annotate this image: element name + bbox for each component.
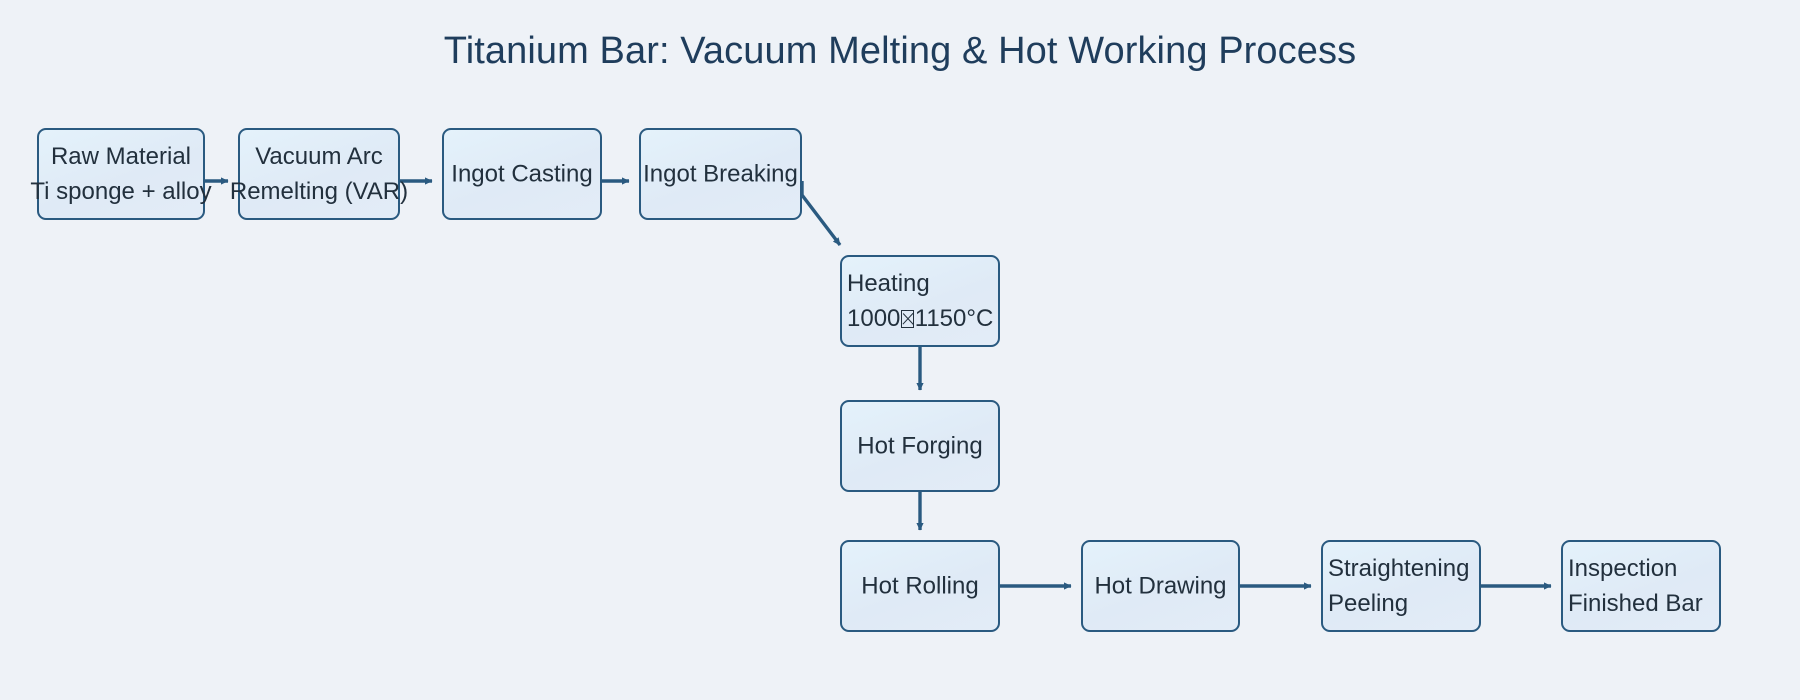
- node-ingot-casting[interactable]: Ingot Casting: [442, 128, 602, 220]
- node-heating-label: Heating 10001150°C: [842, 266, 993, 336]
- node-heating[interactable]: Heating 10001150°C: [840, 255, 1000, 347]
- node-raw-material[interactable]: Raw Material Ti sponge + alloy: [37, 128, 205, 220]
- flowchart-canvas: Titanium Bar: Vacuum Melting & Hot Worki…: [0, 0, 1800, 700]
- node-ingot-breaking[interactable]: Ingot Breaking: [639, 128, 802, 220]
- node-hot-rolling[interactable]: Hot Rolling: [840, 540, 1000, 632]
- node-hot-drawing-label: Hot Drawing: [1094, 569, 1226, 604]
- node-vacuum-arc-remelting[interactable]: Vacuum Arc Remelting (VAR): [238, 128, 400, 220]
- node-hot-forging-label: Hot Forging: [857, 429, 982, 464]
- node-raw-material-label: Raw Material Ti sponge + alloy: [30, 139, 211, 209]
- node-vacuum-arc-remelting-line1: Vacuum Arc: [230, 139, 408, 174]
- node-hot-drawing-line1: Hot Drawing: [1094, 569, 1226, 604]
- node-inspection-finished-bar-line2: Finished Bar: [1568, 586, 1703, 621]
- node-raw-material-line1: Raw Material: [30, 139, 211, 174]
- node-hot-forging[interactable]: Hot Forging: [840, 400, 1000, 492]
- node-straightening-peeling-line1: Straightening: [1328, 551, 1469, 586]
- node-heating-line2: 10001150°C: [847, 301, 993, 336]
- node-hot-rolling-label: Hot Rolling: [861, 569, 978, 604]
- node-raw-material-line2: Ti sponge + alloy: [30, 174, 211, 209]
- node-inspection-finished-bar-label: Inspection Finished Bar: [1563, 551, 1703, 621]
- node-hot-drawing[interactable]: Hot Drawing: [1081, 540, 1240, 632]
- node-inspection-finished-bar-line1: Inspection: [1568, 551, 1703, 586]
- node-straightening-peeling-line2: Peeling: [1328, 586, 1469, 621]
- node-hot-forging-line1: Hot Forging: [857, 429, 982, 464]
- node-ingot-breaking-label: Ingot Breaking: [643, 157, 798, 192]
- node-inspection-finished-bar[interactable]: Inspection Finished Bar: [1561, 540, 1721, 632]
- node-straightening-peeling-label: Straightening Peeling: [1323, 551, 1469, 621]
- edge-breaking-to-heating: [802, 181, 840, 245]
- node-ingot-casting-line1: Ingot Casting: [451, 157, 592, 192]
- missing-glyph-icon: [901, 310, 914, 328]
- node-vacuum-arc-remelting-label: Vacuum Arc Remelting (VAR): [230, 139, 408, 209]
- diagram-title: Titanium Bar: Vacuum Melting & Hot Worki…: [0, 30, 1800, 73]
- heating-range-suffix: 1150°C: [915, 305, 994, 332]
- heating-range-prefix: 1000: [847, 305, 900, 332]
- node-straightening-peeling[interactable]: Straightening Peeling: [1321, 540, 1481, 632]
- node-ingot-breaking-line1: Ingot Breaking: [643, 157, 798, 192]
- node-heating-line1: Heating: [847, 266, 993, 301]
- node-ingot-casting-label: Ingot Casting: [451, 157, 592, 192]
- node-vacuum-arc-remelting-line2: Remelting (VAR): [230, 174, 408, 209]
- node-hot-rolling-line1: Hot Rolling: [861, 569, 978, 604]
